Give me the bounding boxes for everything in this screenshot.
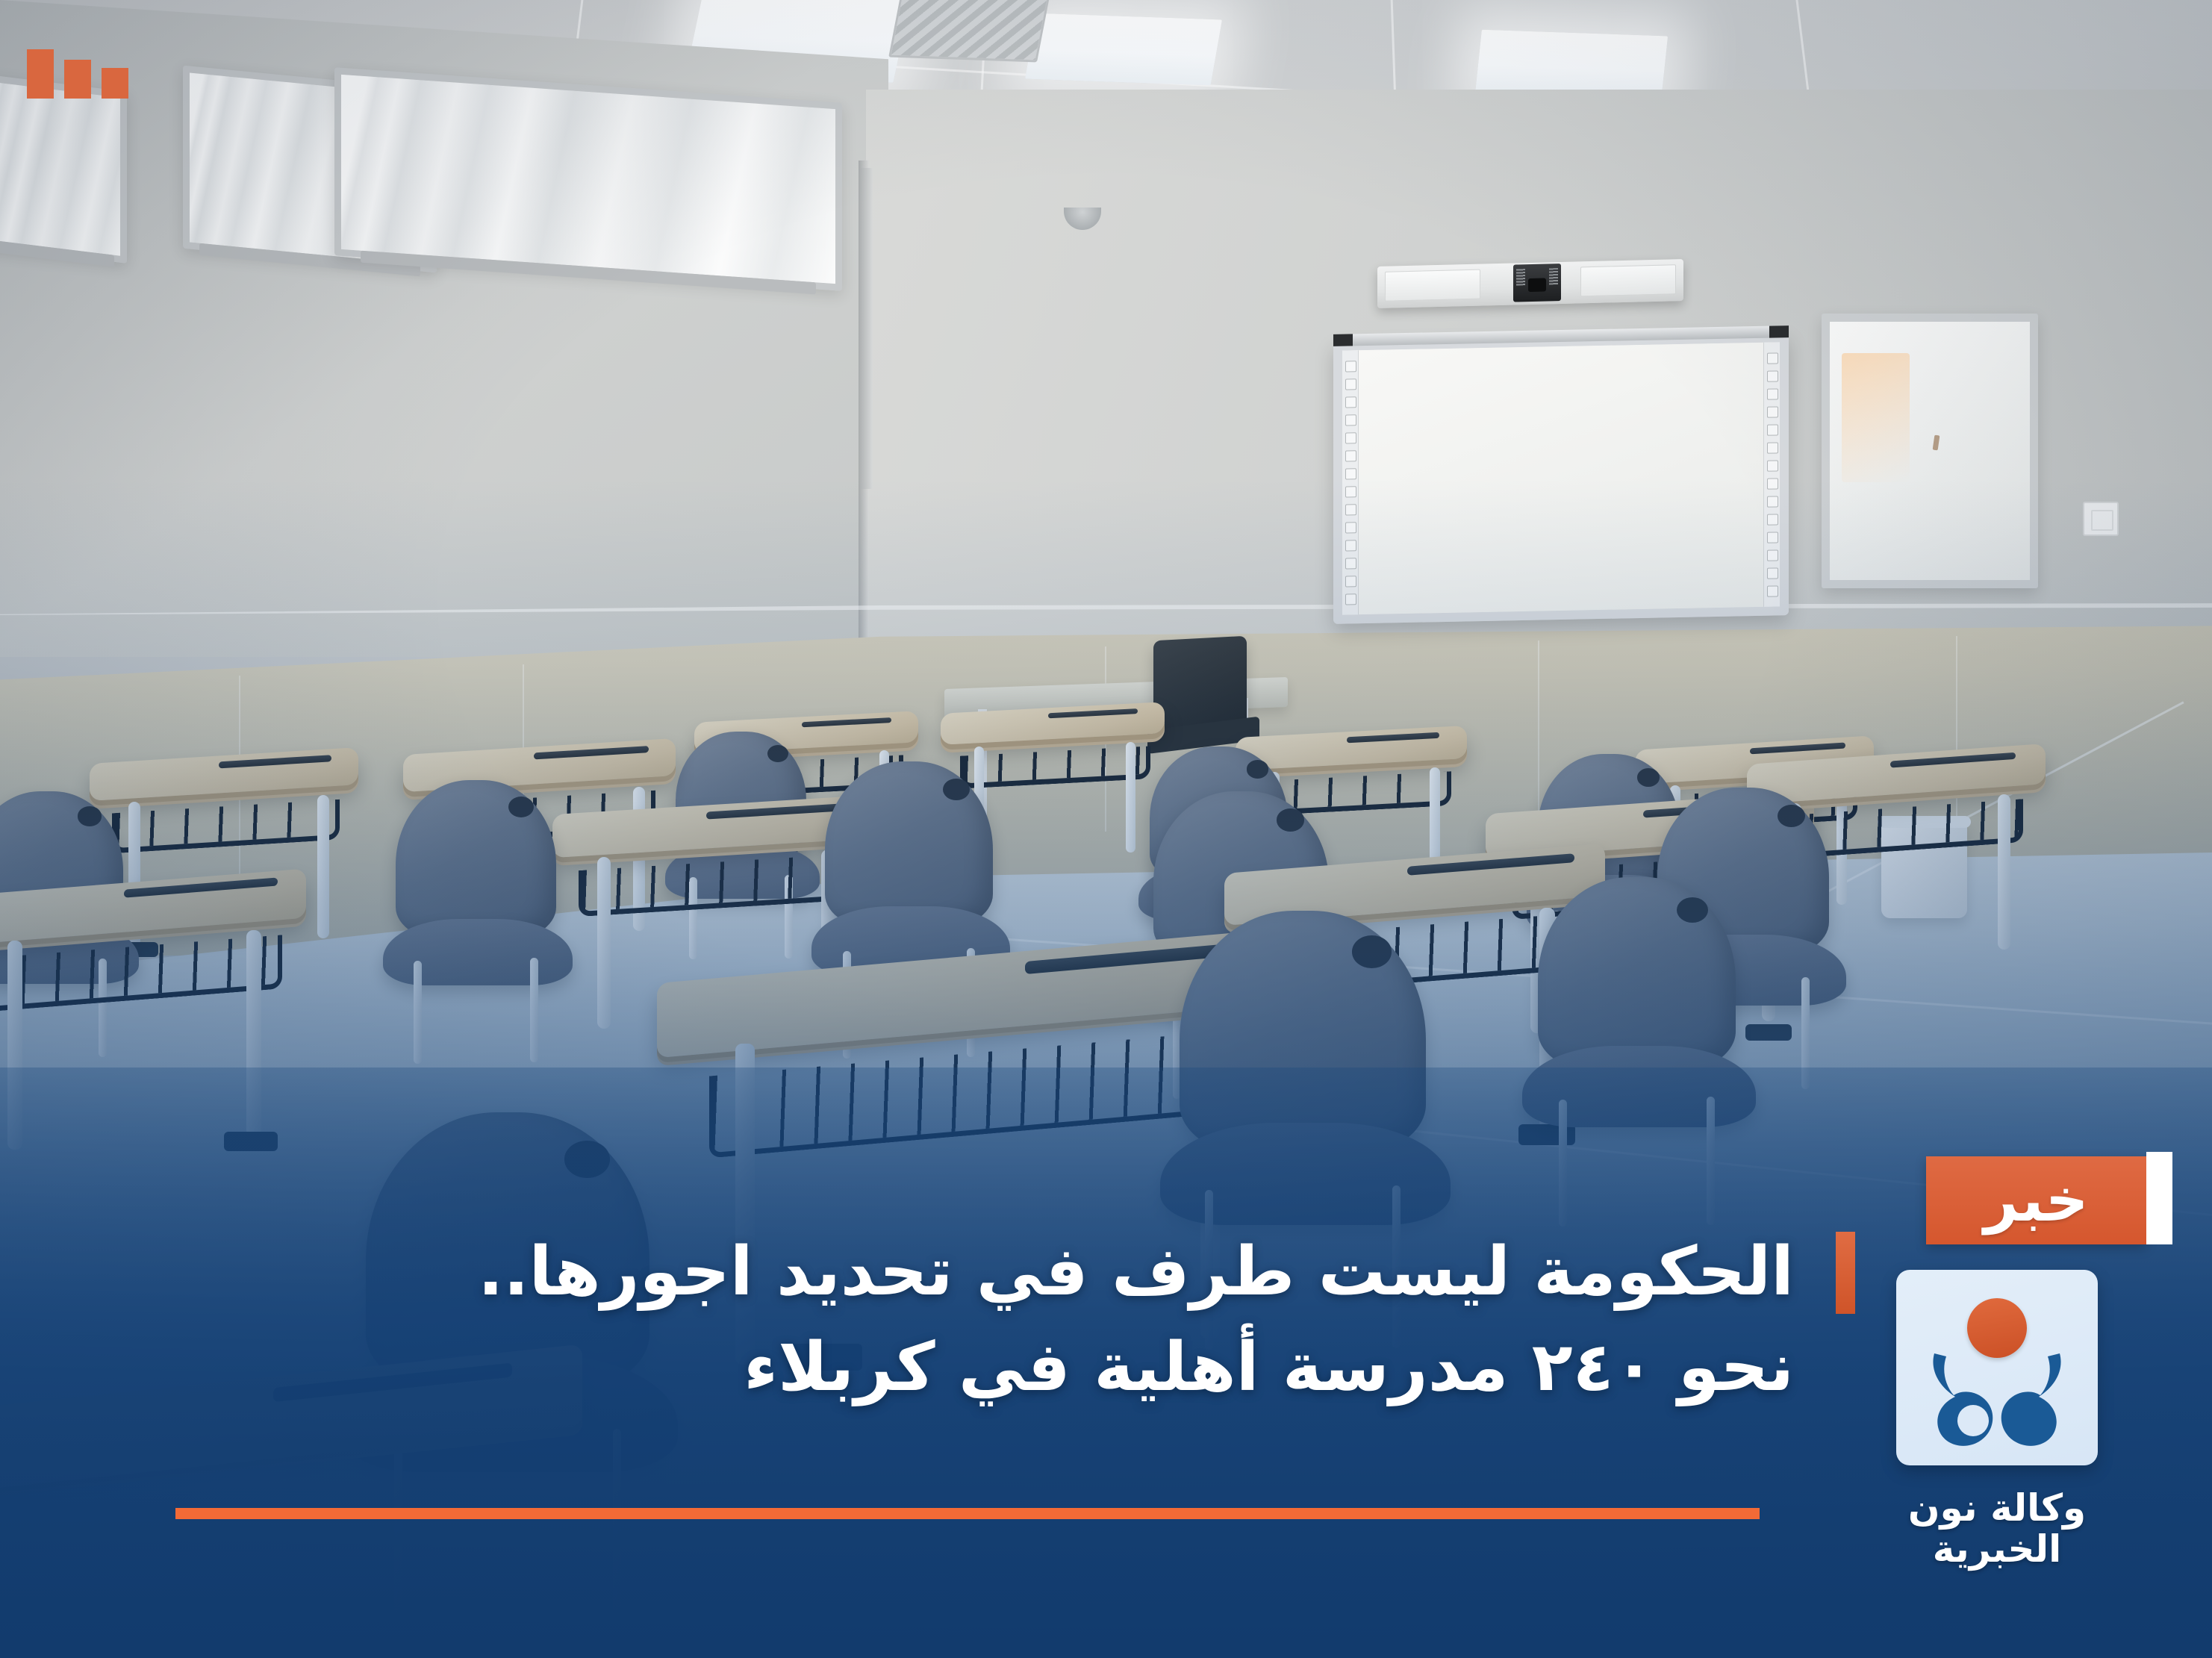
camera-module	[1513, 264, 1561, 302]
logo-figure-icon	[1896, 1347, 2098, 1452]
desk-leg	[1998, 794, 2010, 950]
wall-socket-icon	[2083, 502, 2119, 536]
plastic-wrap	[341, 75, 835, 284]
student-chair-foreground	[1180, 911, 1426, 1277]
desk-leg	[317, 795, 329, 938]
agency-logo-card[interactable]	[1896, 1270, 2098, 1465]
whiteboard-surface	[1342, 342, 1780, 614]
camera-lens-icon	[1528, 278, 1546, 292]
tile-joint	[1105, 646, 1106, 832]
tile-joint	[1956, 636, 1957, 820]
whiteboard-glare	[1842, 353, 1910, 482]
headline-line-2: نحو ٢٤٠ مدرسة أهلية في كربلاء	[142, 1320, 1794, 1415]
headline-line-1: الحكومة ليست طرف في تحديد اجورها..	[142, 1224, 1794, 1320]
logo-bar-1	[27, 49, 54, 99]
whiteboard-corner	[1769, 325, 1789, 337]
news-card: الحكومة ليست طرف في تحديد اجورها.. نحو ٢…	[0, 0, 2212, 1658]
plastic-wrap	[0, 80, 120, 256]
headline-underline-rule	[175, 1508, 1760, 1519]
noon-bars-logo[interactable]	[27, 49, 128, 99]
whiteboard-button-rail-right	[1763, 342, 1780, 606]
wall-conduit	[860, 168, 873, 489]
whiteboard-corner	[1333, 334, 1353, 346]
ceiling-light-panel	[1025, 13, 1222, 86]
camera-led-strip	[1516, 269, 1525, 285]
headline: الحكومة ليست طرف في تحديد اجورها.. نحو ٢…	[142, 1224, 1794, 1415]
desk-leg	[1126, 742, 1135, 853]
agency-name: وكالة نون الخبرية	[1848, 1488, 2146, 1570]
brand-block: خبر وكالة نون الخبرية	[1848, 1156, 2146, 1570]
whiteboard-wrapped	[0, 72, 127, 264]
whiteboard-small	[1822, 314, 2038, 588]
teacher-chair	[1153, 636, 1247, 731]
logo-bar-2	[64, 60, 91, 99]
interactive-whiteboard	[1333, 333, 1789, 624]
desk-leg	[7, 941, 22, 1150]
student-chair	[1538, 877, 1736, 1168]
logo-bar-3	[102, 68, 128, 99]
news-badge-label: خبر	[1926, 1156, 2146, 1244]
news-badge[interactable]: خبر	[1926, 1156, 2146, 1244]
speaker-right	[1580, 264, 1676, 296]
speaker-left	[1385, 269, 1480, 302]
whiteboard-button-rail-left	[1342, 350, 1359, 614]
desk-leg	[246, 930, 261, 1136]
student-chair	[396, 780, 556, 1019]
hvac-diffuser	[888, 0, 1053, 62]
desk-foot	[224, 1132, 278, 1151]
camera-led-strip	[1549, 268, 1558, 284]
speaker-camera-bar	[1377, 259, 1683, 308]
whiteboard-marker	[1933, 435, 1940, 451]
desk-leg	[597, 857, 611, 1029]
whiteboard-wrapped	[334, 67, 842, 291]
